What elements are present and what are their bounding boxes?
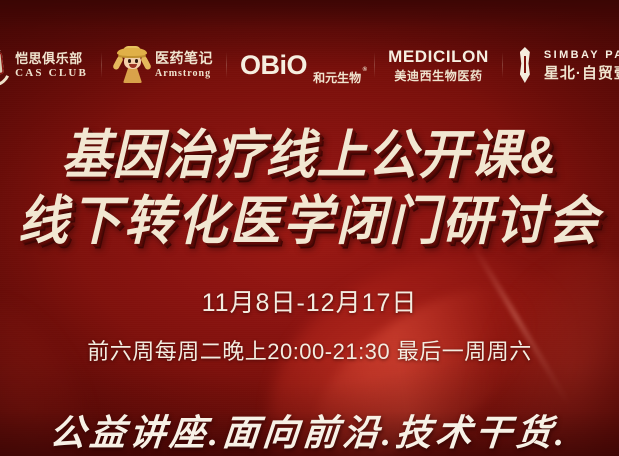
sponsor-name-en: SIMBAY PARK (544, 50, 619, 61)
sponsor-name-cn: 美迪西生物医药 (388, 70, 489, 82)
sponsor-name-en: CAS CLUB (15, 68, 88, 79)
sponsor-logo-bar: 恺思俱乐部 CAS CLUB 医药笔记 Armstrong (0, 38, 619, 92)
event-date-range: 11月8日-12月17日 (0, 283, 619, 319)
medicilon-wordmark-icon: MEDICILON (388, 48, 489, 65)
sponsor-name-en: Armstrong (155, 69, 213, 79)
event-title: 基因治疗线上公开课& 线下转化医学闭门研讨会 (0, 122, 619, 254)
obio-wordmark-icon: OBiO (240, 52, 307, 79)
sponsor-name-cn: 医药笔记 (155, 51, 213, 65)
sponsor-name-cn: 星北·自贸壹号 (544, 66, 619, 81)
event-time-detail: 前六周每周二晚上20:00-21:30 最后一周周六 (0, 334, 619, 366)
sponsor-logo-medicilon: MEDICILON 美迪西生物医药 (375, 41, 502, 89)
event-title-line-2: 线下转化医学闭门研讨会 (0, 186, 619, 256)
trademark-mark: ® (363, 67, 367, 73)
seal-ring-icon (0, 46, 9, 84)
sponsor-logo-simbay-park: SIMBAY PARK 星北·自贸壹号 (503, 41, 619, 89)
sponsor-logo-obio: OBiO 和元生物® (227, 41, 374, 89)
event-tagline: 公益讲座.面向前沿.技术干货. (0, 404, 619, 456)
event-title-line-1: 基因治疗线上公开课& (0, 120, 619, 190)
sponsor-name-cn: 恺思俱乐部 (15, 52, 88, 65)
sponsor-logo-armstrong: 医药笔记 Armstrong (102, 41, 226, 89)
sponsor-name-cn-text: 和元生物 (313, 71, 361, 85)
pirate-mascot-icon (115, 45, 149, 85)
tower-icon (516, 45, 534, 85)
event-poster: 恺思俱乐部 CAS CLUB 医药笔记 Armstrong (0, 0, 619, 456)
sponsor-logo-cas-club: 恺思俱乐部 CAS CLUB (0, 41, 101, 89)
sponsor-name-cn: 和元生物® (313, 69, 361, 86)
